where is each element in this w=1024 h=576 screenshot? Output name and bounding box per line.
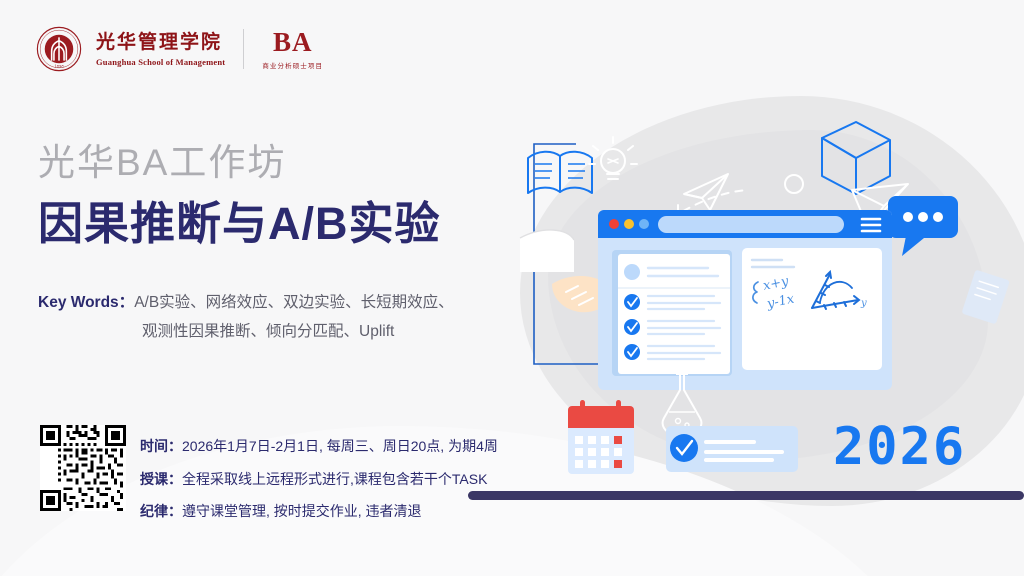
task-bar — [666, 426, 798, 472]
calendar-icon — [568, 400, 634, 474]
page-title: 因果推断与A/B实验 — [38, 197, 441, 251]
open-book-icon — [528, 152, 592, 193]
peking-university-seal-icon: 1898 — [36, 26, 82, 72]
info-value-discipline: 遵守课堂管理, 按时提交作业, 违者清退 — [182, 503, 422, 519]
qr-code[interactable] — [40, 425, 126, 511]
lightbulb-icon — [589, 137, 637, 179]
school-name-en: Guanghua School of Management — [96, 57, 225, 67]
window-dot-yellow-icon — [624, 219, 634, 229]
address-bar — [658, 216, 844, 233]
info-value-time: 2026年1月7日-2月1日, 每周三、周日20点, 为期4周 — [182, 438, 498, 454]
paper-plane-icon — [684, 174, 728, 210]
course-info-list: 时间：2026年1月7日-2月1日, 每周三、周日20点, 为期4周 授课：全程… — [140, 430, 560, 528]
ba-program-block: BA 商业分析硕士项目 — [262, 29, 323, 70]
info-row-discipline: 纪律：遵守课堂管理, 按时提交作业, 违者清退 — [140, 495, 560, 528]
window-dot-red-icon — [609, 219, 619, 229]
year-label: 2026 — [833, 421, 966, 473]
paper-curl-icon — [520, 230, 574, 272]
ba-program-name-cn: 商业分析硕士项目 — [262, 60, 323, 70]
info-key-discipline: 纪律： — [140, 503, 182, 519]
workshop-lead-title: 光华BA工作坊 — [38, 142, 286, 185]
info-row-time: 时间：2026年1月7日-2月1日, 每周三、周日20点, 为期4周 — [140, 430, 560, 463]
chat-bubble-icon — [888, 196, 958, 256]
info-value-teaching: 全程采取线上远程形式进行,课程包含若干个TASK — [182, 471, 487, 487]
keywords-line-1: A/B实验、网络效应、双边实验、长短期效应、 — [134, 294, 454, 311]
axis-label-y: y — [860, 298, 867, 309]
window-dot-blue-icon — [639, 219, 649, 229]
browser-window: x+y y-1x y — [598, 210, 892, 390]
school-name-cn: 光华管理学院 — [96, 31, 225, 54]
keywords-line-2: 观测性因果推断、倾向分匹配、Uplift — [38, 317, 538, 346]
brand-header: 1898 光华管理学院 Guanghua School of Managemen… — [36, 26, 323, 72]
school-name-block: 光华管理学院 Guanghua School of Management — [96, 31, 225, 67]
document-icon-right — [961, 270, 1009, 325]
info-key-time: 时间： — [140, 438, 182, 454]
cube-icon — [822, 122, 890, 194]
accent-bar — [468, 491, 1024, 500]
avatar — [624, 264, 640, 280]
svg-text:1898: 1898 — [54, 64, 64, 68]
info-key-teaching: 授课： — [140, 471, 182, 487]
keywords-block: Key Words：A/B实验、网络效应、双边实验、长短期效应、 观测性因果推断… — [38, 288, 538, 347]
circle-icon — [785, 175, 803, 193]
brand-divider — [243, 29, 244, 69]
ba-program-abbr: BA — [273, 29, 313, 56]
keywords-label: Key Words： — [38, 294, 134, 311]
